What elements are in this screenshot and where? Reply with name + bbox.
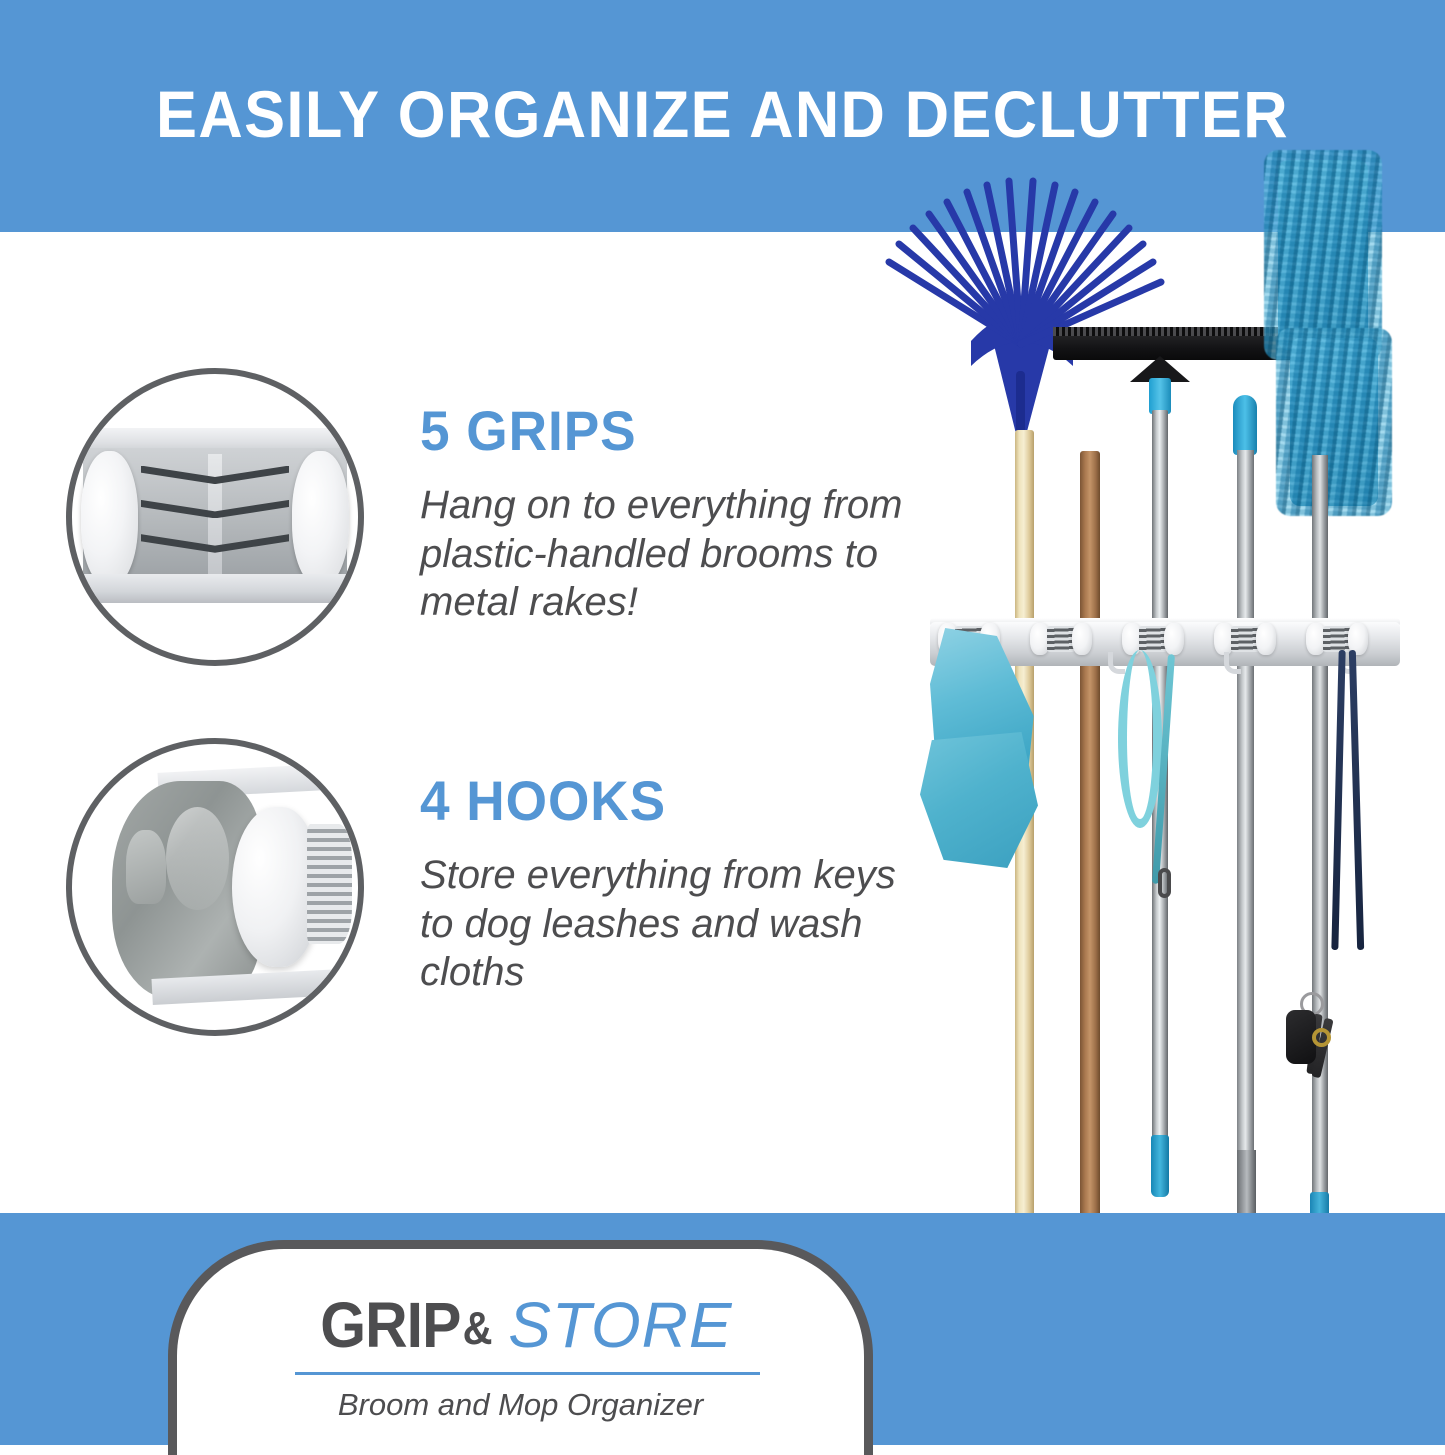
teal-wash-cloth <box>920 628 1045 868</box>
feature-row-grips: 5 GRIPS Hang on to everything from plast… <box>66 368 920 666</box>
brand-tagline: Broom and Mop Organizer <box>177 1387 864 1423</box>
duster-pole <box>1312 455 1328 1245</box>
keys-on-lanyard <box>1280 992 1342 1102</box>
angle-broom-grip-cap <box>1233 395 1257 455</box>
feature-body-grips: Hang on to everything from plastic-handl… <box>420 481 920 627</box>
brand-ampersand: & <box>463 1305 493 1351</box>
feature-body-hooks: Store everything from keys to dog leashe… <box>420 851 920 997</box>
blue-leaf-rake-head-icon <box>875 166 1170 456</box>
hook-closeup-photo <box>66 738 364 1036</box>
hook-3 <box>1224 652 1241 674</box>
brand-word-secondary: STORE <box>508 1293 732 1357</box>
feature-heading-grips: 5 GRIPS <box>420 402 895 461</box>
brand-logo-box: GRIP&STORE Broom and Mop Organizer <box>168 1240 873 1455</box>
rubber-broom-ferrule <box>1151 1135 1169 1197</box>
grip-closeup-photo <box>66 368 364 666</box>
brand-wordmark: GRIP&STORE <box>177 1293 864 1357</box>
feature-text-hooks: 4 HOOKS Store everything from keys to do… <box>420 738 920 997</box>
teal-dog-leash <box>1112 650 1204 900</box>
microfiber-duster-head-icon <box>1276 160 1382 505</box>
angle-broom-pole <box>1237 450 1254 1220</box>
rubber-broom-collar <box>1149 378 1171 414</box>
wooden-broom-handle <box>1080 451 1100 1281</box>
infographic-page: EASILY ORGANIZE AND DECLUTTER <box>0 0 1445 1445</box>
feature-heading-hooks: 4 HOOKS <box>420 772 895 831</box>
navy-lanyard <box>1335 650 1369 980</box>
brand-word-primary: GRIP <box>321 1293 461 1357</box>
brand-divider-rule <box>295 1372 760 1375</box>
feature-row-hooks: 4 HOOKS Store everything from keys to do… <box>66 738 920 1036</box>
feature-text-grips: 5 GRIPS Hang on to everything from plast… <box>420 368 920 627</box>
